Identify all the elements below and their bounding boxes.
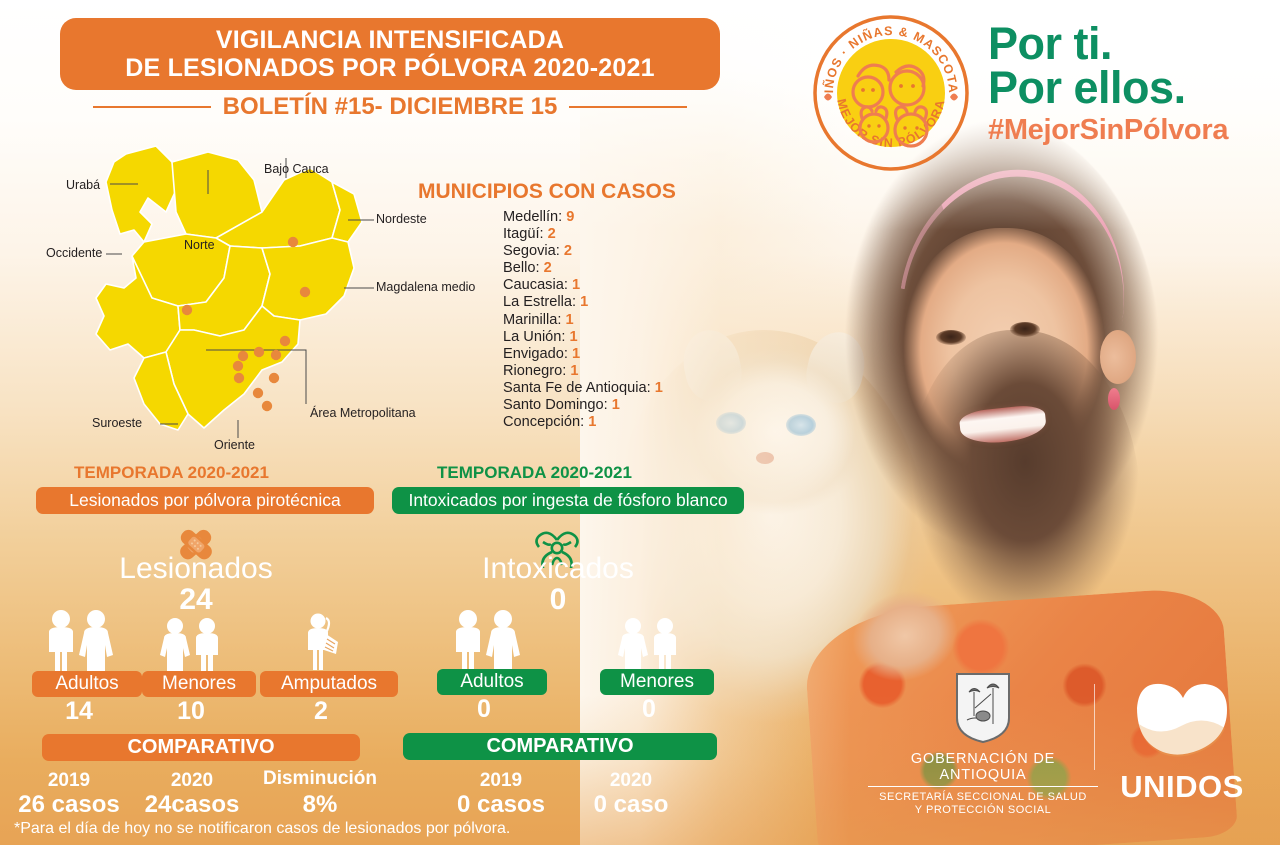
- adults-icon: [443, 609, 529, 671]
- category-label-menores-poisoned: Menores: [600, 669, 714, 695]
- municipio-name: Santa Fe de Antioquia:: [503, 380, 655, 396]
- map-label-oriente: Oriente: [214, 438, 255, 452]
- comparative-value-2020-injured: 24casos: [140, 791, 244, 819]
- municipios-title: MUNICIPIOS CON CASOS: [418, 180, 676, 204]
- rule-right: [569, 106, 687, 108]
- comparative-value-disminucion: 8%: [256, 791, 384, 819]
- comparative-label-disminucion: Disminución: [256, 768, 384, 790]
- map-label-area-metropolitana: Área Metropolitana: [310, 406, 416, 420]
- municipio-name: Segovia:: [503, 243, 564, 259]
- mejor-sin-polvora-seal: NIÑOS · NIÑAS & MASCOTAS MEJOR SIN PÓLVO…: [812, 14, 970, 172]
- map-label-occidente: Occidente: [46, 246, 102, 260]
- bulletin-subtitle-row: BOLETÍN #15- DICIEMBRE 15: [40, 92, 740, 122]
- municipio-name: Itagüí:: [503, 226, 548, 242]
- amputee-icon: [296, 612, 346, 672]
- unidos-logo: UNIDOS: [1112, 680, 1252, 805]
- footnote: *Para el día de hoy no se notificaron ca…: [14, 820, 510, 838]
- municipio-count: 1: [570, 329, 578, 345]
- comparative-label-poisoned: COMPARATIVO: [403, 733, 717, 760]
- municipio-row: Concepción: 1: [503, 414, 663, 431]
- comparative-year-2020-injured: 2020: [146, 770, 238, 792]
- municipio-row: Itagüí: 2: [503, 226, 663, 243]
- category-value-amputados: 2: [260, 697, 382, 726]
- municipio-name: Bello:: [503, 260, 544, 276]
- antioquia-shield-icon: [953, 672, 1013, 744]
- municipio-name: Caucasia:: [503, 277, 572, 293]
- municipio-row: Santo Domingo: 1: [503, 397, 663, 414]
- category-value-menores-injured: 10: [142, 697, 240, 726]
- category-value-adultos-poisoned: 0: [437, 695, 531, 724]
- map-label-uraba: Urabá: [66, 178, 100, 192]
- children-icon: [613, 617, 685, 671]
- antioquia-map: Urabá Bajo Cauca Norte Nordeste Occident…: [48, 138, 428, 458]
- rule-left: [93, 106, 211, 108]
- map-label-norte: Norte: [184, 238, 215, 252]
- municipio-count: 1: [572, 277, 580, 293]
- comparative-year-2020-poisoned: 2020: [578, 770, 684, 792]
- category-label-adultos-injured: Adultos: [32, 671, 142, 697]
- pill-injured: Lesionados por pólvora pirotécnica: [36, 487, 374, 514]
- municipio-count: 1: [572, 346, 580, 362]
- infographic-canvas: VIGILANCIA INTENSIFICADA DE LESIONADOS P…: [0, 0, 1280, 845]
- map-label-bajo-cauca: Bajo Cauca: [264, 162, 329, 176]
- comparative-year-2019-poisoned: 2019: [448, 770, 554, 792]
- category-label-adultos-poisoned: Adultos: [437, 669, 547, 695]
- municipio-name: La Unión:: [503, 329, 570, 345]
- municipio-row: La Estrella: 1: [503, 294, 663, 311]
- municipio-name: Envigado:: [503, 346, 572, 362]
- girl-earring: [1108, 388, 1120, 410]
- gobernacion-logo: GOBERNACIÓN DE ANTIOQUIA SECRETARÍA SECC…: [868, 672, 1098, 817]
- children-icon: [155, 617, 227, 671]
- municipio-count: 9: [566, 209, 574, 225]
- map-label-suroeste: Suroeste: [92, 416, 142, 430]
- total-value-injured: 24: [96, 583, 296, 617]
- unidos-word: UNIDOS: [1112, 769, 1252, 805]
- tagline-line-1: Por ti.: [988, 22, 1228, 66]
- municipio-count: 1: [655, 380, 663, 396]
- municipios-list: Medellín: 9Itagüí: 2Segovia: 2Bello: 2Ca…: [503, 209, 663, 431]
- tagline-line-2: Por ellos.: [988, 66, 1228, 110]
- gobernacion-name: GOBERNACIÓN DE ANTIOQUIA: [868, 751, 1098, 787]
- unidos-mark-icon: [1127, 680, 1237, 762]
- municipio-name: Rionegro:: [503, 363, 570, 379]
- girl-eye-left: [936, 330, 966, 345]
- municipio-name: Concepción:: [503, 414, 588, 430]
- municipio-row: Marinilla: 1: [503, 312, 663, 329]
- municipio-row: Santa Fe de Antioquia: 1: [503, 380, 663, 397]
- municipio-name: Santo Domingo:: [503, 397, 612, 413]
- comparative-value-2019-injured: 26 casos: [18, 791, 120, 819]
- municipio-name: Marinilla:: [503, 312, 565, 328]
- municipio-row: Envigado: 1: [503, 346, 663, 363]
- category-value-adultos-injured: 14: [32, 697, 126, 726]
- comparative-value-2019-poisoned: 0 casos: [442, 791, 560, 819]
- page-title: VIGILANCIA INTENSIFICADA DE LESIONADOS P…: [60, 18, 720, 90]
- season-heading-poisoned: TEMPORADA 2020-2021: [437, 463, 632, 483]
- secretaria-line-2: Y PROTECCIÓN SOCIAL: [868, 804, 1098, 817]
- total-label-poisoned: Intoxicados: [458, 552, 658, 586]
- campaign-tagline: Por ti. Por ellos. #MejorSinPólvora: [988, 22, 1228, 147]
- municipio-row: Caucasia: 1: [503, 277, 663, 294]
- municipio-count: 2: [548, 226, 556, 242]
- comparative-value-2020-poisoned: 0 caso: [572, 791, 690, 819]
- girl-eye-right: [1010, 322, 1040, 337]
- total-label-injured: Lesionados: [96, 552, 296, 586]
- adults-icon: [36, 609, 122, 671]
- municipio-row: Rionegro: 1: [503, 363, 663, 380]
- municipio-count: 1: [612, 397, 620, 413]
- municipio-count: 2: [544, 260, 552, 276]
- season-heading-injured: TEMPORADA 2020-2021: [74, 463, 269, 483]
- comparative-label-injured: COMPARATIVO: [42, 734, 360, 761]
- map-label-magdalena-medio: Magdalena medio: [376, 280, 475, 294]
- pill-poisoned: Intoxicados por ingesta de fósforo blanc…: [392, 487, 744, 514]
- municipio-count: 1: [588, 414, 596, 430]
- municipio-count: 1: [570, 363, 578, 379]
- bulletin-subtitle: BOLETÍN #15- DICIEMBRE 15: [223, 93, 558, 121]
- municipio-row: La Unión: 1: [503, 329, 663, 346]
- category-label-amputados: Amputados: [260, 671, 398, 697]
- municipio-name: Medellín:: [503, 209, 566, 225]
- map-label-nordeste: Nordeste: [376, 212, 427, 226]
- comparative-year-2019-injured: 2019: [24, 770, 114, 792]
- secretaria-line-1: SECRETARÍA SECCIONAL DE SALUD: [868, 791, 1098, 804]
- category-label-menores-injured: Menores: [142, 671, 256, 697]
- title-line-1: VIGILANCIA INTENSIFICADA: [216, 26, 564, 54]
- municipio-name: La Estrella:: [503, 294, 580, 310]
- municipio-count: 2: [564, 243, 572, 259]
- category-value-menores-poisoned: 0: [600, 695, 698, 724]
- municipio-row: Medellín: 9: [503, 209, 663, 226]
- title-line-2: DE LESIONADOS POR PÓLVORA 2020-2021: [125, 54, 654, 82]
- municipio-row: Bello: 2: [503, 260, 663, 277]
- municipio-count: 1: [580, 294, 588, 310]
- logo-divider: [1094, 684, 1095, 770]
- girl-ear: [1100, 330, 1136, 384]
- municipio-row: Segovia: 2: [503, 243, 663, 260]
- municipio-count: 1: [565, 312, 573, 328]
- campaign-hashtag: #MejorSinPólvora: [988, 114, 1228, 147]
